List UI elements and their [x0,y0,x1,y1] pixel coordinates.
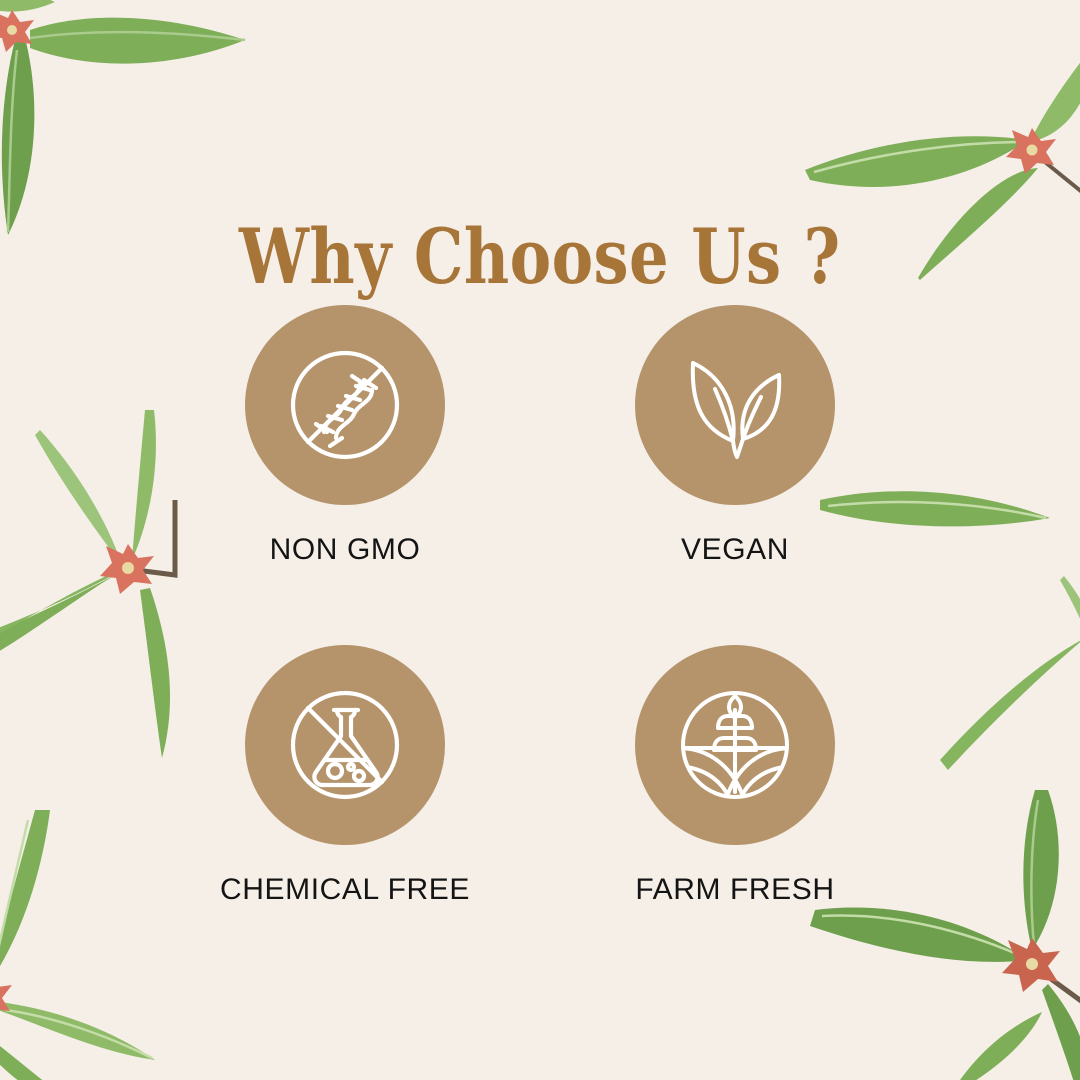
no-chemical-flask-icon [280,680,410,810]
no-gmo-icon [280,340,410,470]
feature-vegan[interactable]: VEGAN [540,305,930,567]
two-leaves-icon [675,345,795,465]
badge-farm-fresh [635,645,835,845]
feature-label-chemical-free: CHEMICAL FREE [220,873,470,907]
feature-farm-fresh[interactable]: FARM FRESH [540,645,930,907]
feature-label-farm-fresh: FARM FRESH [635,873,834,907]
why-choose-us-poster: Why Choose Us ? [0,0,1080,1080]
feature-label-non-gmo: NON GMO [270,533,421,567]
badge-non-gmo [245,305,445,505]
feature-label-vegan: VEGAN [681,533,789,567]
feature-chemical-free[interactable]: CHEMICAL FREE [150,645,540,907]
badge-vegan [635,305,835,505]
page-title: Why Choose Us ? [239,219,840,295]
feature-non-gmo[interactable]: NON GMO [150,305,540,567]
wheat-field-icon [670,680,800,810]
feature-grid: NON GMO VEGAN [150,305,930,907]
badge-chemical-free [245,645,445,845]
